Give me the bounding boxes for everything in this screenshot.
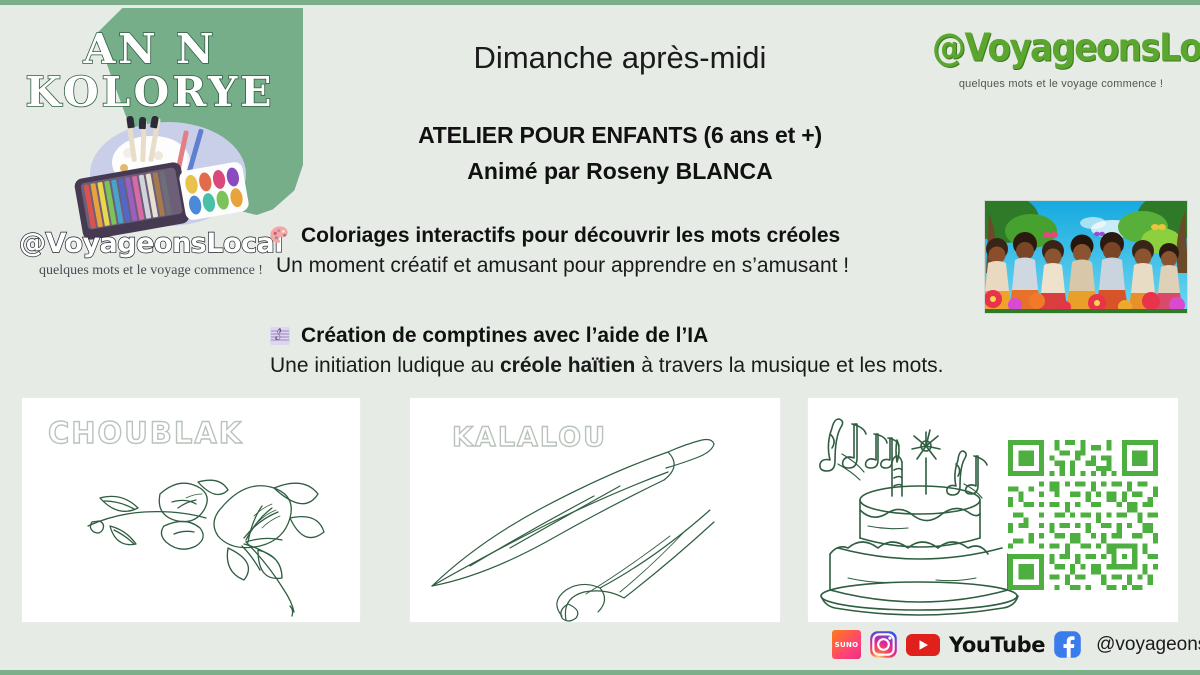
instagram-icon[interactable]	[869, 630, 898, 659]
headline-block: Dimanche après-midi ATELIER POUR ENFANTS…	[300, 40, 940, 185]
card-word-label: CHOUBLAK	[48, 416, 243, 450]
artist-palette-emoji	[268, 224, 292, 248]
brand-handle-right: @VoyageonsLocal	[932, 26, 1200, 71]
feature-heading-row: Coloriages interactifs pour découvrir le…	[268, 224, 849, 248]
workshop-title: ATELIER POUR ENFANTS (6 ans et +)	[300, 122, 940, 149]
wordmark-line-1: AN N	[0, 28, 300, 71]
brand-tagline-left: quelques mots et le voyage commence !	[12, 263, 290, 279]
palette-well-4	[154, 151, 163, 160]
coloring-card-cake-and-qr[interactable]	[808, 398, 1178, 622]
coloring-card-kalalou[interactable]: KALALOU	[410, 398, 780, 622]
brand-logo-right: @VoyageonsLocal quelques mots et le voya…	[932, 28, 1190, 90]
watercolor-set-icon	[178, 161, 250, 221]
feature-title: Coloriages interactifs pour découvrir le…	[301, 224, 840, 247]
social-handle: @voyageonslocal	[1096, 634, 1200, 656]
facebook-icon[interactable]	[1053, 630, 1082, 659]
brand-logo-left: @VoyageonsLocal quelques mots et le voya…	[12, 228, 290, 279]
musical-score-emoji	[268, 324, 292, 348]
workshop-host: Animé par Roseny BLANCA	[300, 158, 940, 185]
children-singing-illustration	[984, 200, 1188, 314]
brand-handle-left: @VoyageonsLocal	[12, 228, 290, 259]
event-wordmark: AN N KOLORYE	[0, 28, 300, 115]
youtube-label: YouTube	[949, 633, 1045, 657]
qr-code[interactable]	[1008, 440, 1158, 590]
art-supplies-illustration	[82, 118, 254, 230]
event-day: Dimanche après-midi	[300, 40, 940, 76]
feature-subtitle-before: Une initiation ludique au	[270, 354, 500, 377]
brush-tip-2	[139, 117, 146, 129]
feature-subtitle: Un moment créatif et amusant pour appren…	[276, 254, 849, 278]
coloring-card-choublak[interactable]: CHOUBLAK	[22, 398, 360, 622]
bottom-rule	[0, 670, 1200, 675]
children-illustration-svg	[985, 201, 1188, 314]
feature-block-coloring: Coloriages interactifs pour découvrir le…	[268, 224, 849, 278]
suno-icon[interactable]: SUNO	[832, 630, 861, 659]
youtube-icon[interactable]	[906, 633, 940, 657]
feature-subtitle-emphasis: créole haïtien	[500, 354, 635, 377]
wordmark-line-2: KOLORYE	[0, 71, 300, 114]
feature-heading-row: Création de comptines avec l’aide de l’I…	[268, 324, 944, 348]
feature-subtitle: Une initiation ludique au créole haïtien…	[270, 354, 944, 378]
top-rule	[0, 0, 1200, 5]
feature-block-rhymes: Création de comptines avec l’aide de l’I…	[268, 324, 944, 378]
brush-tip-1	[126, 116, 135, 129]
suno-label: SUNO	[835, 641, 859, 649]
poster-canvas: AN N KOLORYE	[0, 0, 1200, 675]
pencil-case-pencils	[80, 167, 183, 230]
brand-tagline-right: quelques mots et le voyage commence !	[932, 78, 1190, 90]
card-word-label: KALALOU	[452, 422, 607, 453]
feature-title: Création de comptines avec l’aide de l’I…	[301, 324, 708, 347]
feature-subtitle-after: à travers la musique et les mots.	[635, 354, 943, 377]
social-links-bar: SUNO YouTube @voyageonslo	[832, 630, 1200, 659]
